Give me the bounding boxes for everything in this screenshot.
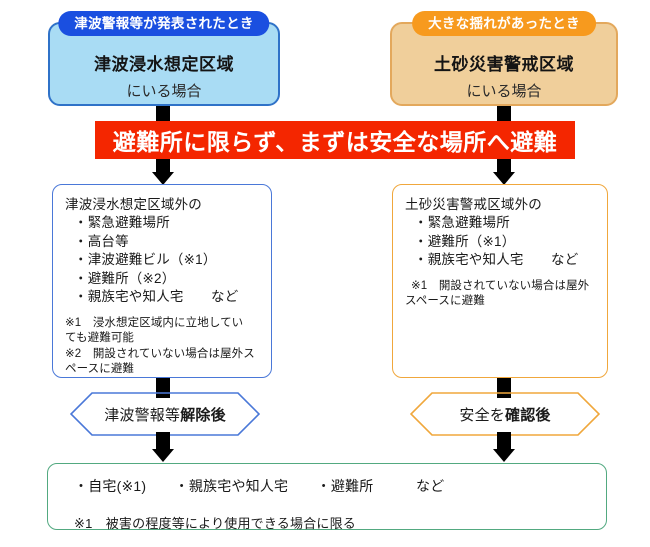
connector-banner-to-landslide-list [497, 159, 511, 173]
list-item: ・避難所（※2） [74, 270, 261, 289]
connector-tsunami-to-banner [156, 106, 170, 122]
list-item: ・緊急避難場所 [414, 214, 597, 233]
list-item: ・親族宅や知人宅 など [414, 251, 597, 270]
decision-label-landslide: 安全を確認後 [410, 392, 600, 436]
result-note: ※1 被害の程度等により使用できる場合に限る [74, 513, 606, 532]
decision-label-tsunami: 津波警報等解除後 [70, 392, 260, 436]
arrowhead-landslide-decision-to-result [493, 449, 515, 462]
red-alert-banner: 避難所に限らず、まずは安全な場所へ避難 [95, 121, 575, 159]
list-item: ・津波避難ビル（※1） [74, 251, 261, 270]
connector-landslide-decision-to-result [497, 432, 511, 450]
red-alert-banner-text: 避難所に限らず、まずは安全な場所へ避難 [113, 123, 557, 157]
decision-label-normal-tsunami: 津波警報等 [104, 404, 180, 425]
condition-title-landslide: 土砂災害警戒区域 [392, 50, 616, 75]
note-line: ペースに避難 [65, 362, 261, 378]
connector-banner-to-tsunami-list [156, 159, 170, 173]
decision-label-bold-landslide: 確認後 [505, 404, 551, 425]
result-destinations: ・自宅(※1) ・親族宅や知人宅 ・避難所 など [74, 476, 606, 496]
shelter-list-tsunami: ・緊急避難場所 ・高台等 ・津波避難ビル（※1） ・避難所（※2） ・親族宅や知… [65, 214, 261, 307]
note-line: ※2 開設されていない場合は屋外ス [65, 347, 261, 363]
list-item: ・避難所（※1） [414, 233, 597, 252]
result-box: ・自宅(※1) ・親族宅や知人宅 ・避難所 など ※1 被害の程度等により使用で… [47, 463, 607, 530]
note-line: スペースに避難 [405, 294, 597, 310]
condition-badge-landslide: 大きな揺れがあったとき [412, 11, 596, 36]
connector-landslide-to-banner [497, 106, 511, 122]
list-item: ・高台等 [74, 233, 261, 252]
shelter-list-heading-tsunami: 津波浸水想定区域外の [65, 193, 261, 213]
note-line: ※1 浸水想定区域内に立地してい [65, 316, 261, 332]
decision-label-bold-tsunami: 解除後 [180, 404, 226, 425]
condition-card-tsunami: 津波警報等が発表されたとき 津波浸水想定区域 にいる場合 [48, 22, 280, 106]
note-line: ても避難可能 [65, 331, 261, 347]
note-line: ※1 開設されていない場合は屋外 [405, 279, 597, 295]
condition-subtitle-landslide: にいる場合 [392, 80, 616, 101]
list-item: ・緊急避難場所 [74, 214, 261, 233]
condition-subtitle-tsunami: にいる場合 [50, 80, 278, 101]
condition-badge-tsunami: 津波警報等が発表されたとき [58, 11, 269, 36]
shelter-list-heading-landslide: 土砂災害警戒区域外の [405, 193, 597, 213]
arrowhead-tsunami-decision-to-result [152, 449, 174, 462]
condition-title-tsunami: 津波浸水想定区域 [50, 50, 278, 75]
connector-tsunami-decision-to-result [156, 432, 170, 450]
shelter-list-box-tsunami: 津波浸水想定区域外の ・緊急避難場所 ・高台等 ・津波避難ビル（※1） ・避難所… [52, 184, 272, 378]
shelter-list-landslide: ・緊急避難場所 ・避難所（※1） ・親族宅や知人宅 など [405, 214, 597, 270]
shelter-list-notes-landslide: ※1 開設されていない場合は屋外 スペースに避難 [405, 279, 597, 310]
condition-card-landslide: 大きな揺れがあったとき 土砂災害警戒区域 にいる場合 [390, 22, 618, 106]
evacuation-flowchart-diagram: 津波警報等が発表されたとき 津波浸水想定区域 にいる場合 大きな揺れがあったとき… [0, 0, 650, 547]
shelter-list-box-landslide: 土砂災害警戒区域外の ・緊急避難場所 ・避難所（※1） ・親族宅や知人宅 など … [392, 184, 608, 378]
decision-label-normal-landslide: 安全を [459, 404, 505, 425]
list-item: ・親族宅や知人宅 など [74, 288, 261, 307]
decision-hexagon-landslide: 安全を確認後 [410, 392, 600, 436]
decision-hexagon-tsunami: 津波警報等解除後 [70, 392, 260, 436]
shelter-list-notes-tsunami: ※1 浸水想定区域内に立地してい ても避難可能 ※2 開設されていない場合は屋外… [65, 316, 261, 378]
